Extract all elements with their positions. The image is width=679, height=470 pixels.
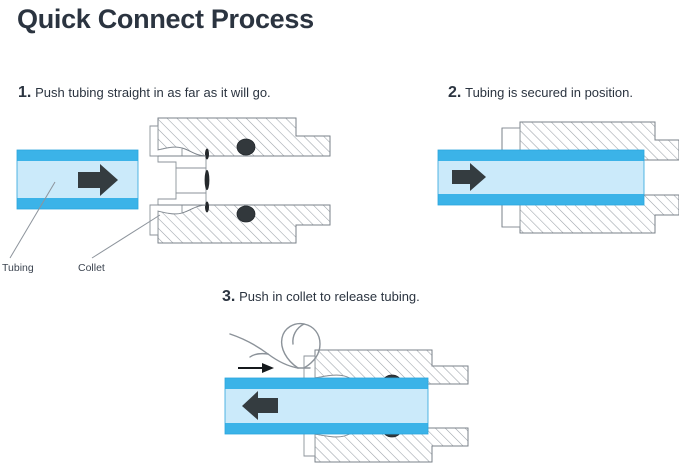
callout-tubing: Tubing <box>2 262 34 274</box>
step-2-number: 2. <box>448 84 461 101</box>
callout-collet: Collet <box>78 262 105 274</box>
collet-ring-upper <box>150 118 158 126</box>
collet-tooth-middle <box>205 170 210 190</box>
step-3-figure <box>200 312 500 470</box>
step-1-number: 1. <box>18 84 31 101</box>
o-ring-lower <box>237 206 255 222</box>
collet-tooth-upper <box>205 149 209 160</box>
o-ring-upper <box>237 139 255 155</box>
step-2-figure <box>420 110 679 245</box>
step-2-text: Tubing is secured in position. <box>465 85 633 100</box>
collet-core <box>176 168 206 193</box>
step-3-text: Push in collet to release tubing. <box>239 289 420 304</box>
small-arrow-right-icon <box>238 363 274 373</box>
step-3-number: 3. <box>222 288 235 305</box>
collet-finger-upper <box>158 156 206 168</box>
collet-finger-lower <box>158 193 206 205</box>
step-1-text: Push tubing straight in as far as it wil… <box>35 85 271 100</box>
diagram-canvas: Quick Connect Process 1. Push tubing str… <box>0 0 679 470</box>
tubing-step-1 <box>17 150 138 209</box>
step-3-label: 3. Push in collet to release tubing. <box>222 288 420 306</box>
collet-tooth-lower <box>205 202 209 213</box>
step-1-figure <box>0 110 350 285</box>
leader-line-collet <box>92 215 160 258</box>
page-title: Quick Connect Process <box>17 4 314 35</box>
step-2-label: 2. Tubing is secured in position. <box>448 84 633 102</box>
step-1-label: 1. Push tubing straight in as far as it … <box>18 84 271 102</box>
